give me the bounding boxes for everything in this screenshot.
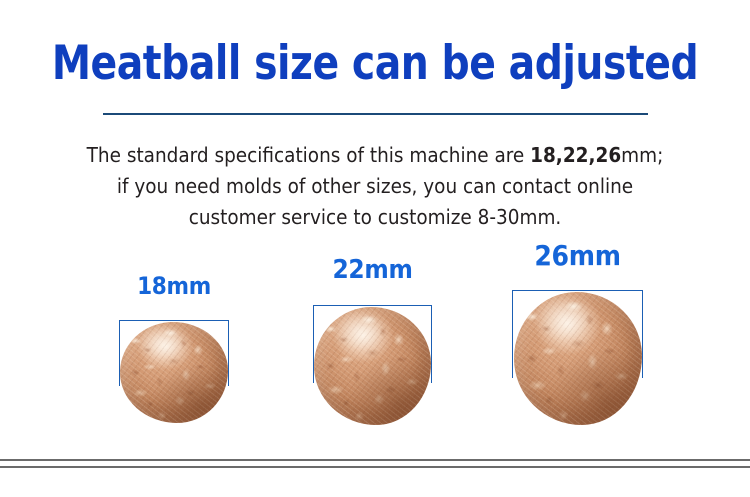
bracket-cap-left-26mm: [512, 290, 513, 378]
dimension-label-18mm: 18mm: [119, 272, 229, 300]
dimension-label-26mm: 26mm: [512, 239, 643, 272]
description-line-1-prefix: The standard specifications of this mach…: [87, 143, 530, 167]
meat-shading-18mm: [120, 322, 228, 423]
dimension-label-22mm: 22mm: [313, 255, 432, 285]
meatball-image-22mm: [314, 307, 431, 425]
description-text: The standard specifications of this mach…: [50, 140, 700, 233]
bracket-cap-right-18mm: [228, 320, 229, 386]
dimension-bracket-18mm: [119, 320, 229, 321]
title-divider: [103, 113, 648, 115]
meatball-image-26mm: [514, 292, 642, 425]
meatball-sample-26mm: 26mm: [512, 290, 643, 426]
footer-rule-top: [0, 459, 750, 461]
meat-shading-22mm: [314, 307, 431, 425]
dimension-bracket-22mm: [313, 305, 432, 306]
bracket-cap-right-26mm: [642, 290, 643, 378]
meatball-sample-22mm: 22mm: [313, 305, 432, 425]
dimension-bracket-26mm: [512, 290, 643, 291]
description-line-1-suffix: mm;: [621, 143, 663, 167]
description-line-3: customer service to customize 8-30mm.: [189, 205, 562, 229]
meat-shading-26mm: [514, 292, 642, 425]
promo-banner: Meatball size can be adjusted The standa…: [0, 0, 750, 497]
meatball-sample-18mm: 18mm: [119, 320, 229, 424]
page-title: Meatball size can be adjusted: [26, 36, 724, 92]
footer-rule-bottom: [0, 466, 750, 468]
bracket-cap-right-22mm: [431, 305, 432, 383]
meatball-image-18mm: [120, 322, 228, 423]
description-sizes-bold: 18,22,26: [530, 143, 621, 167]
description-line-2: if you need molds of other sizes, you ca…: [117, 174, 633, 198]
